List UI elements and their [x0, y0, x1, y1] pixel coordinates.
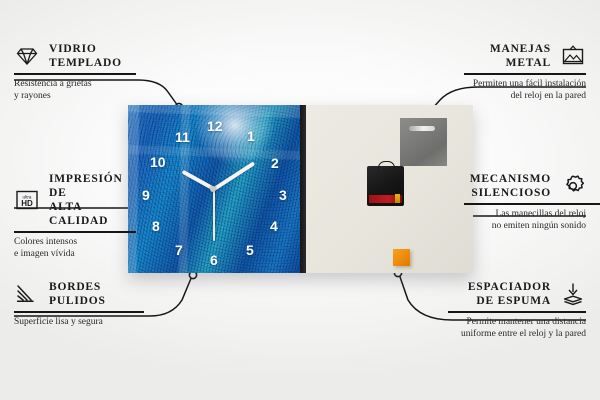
- feature-title: MANEJAS METAL: [490, 42, 551, 70]
- feature-espaciador-espuma: ESPACIADOR DE ESPUMA Permite mantener un…: [448, 280, 586, 341]
- feature-vidrio-templado: VIDRIO TEMPLADO Resistencia a grietas y …: [14, 42, 136, 103]
- foam-spacer-piece: [393, 249, 410, 266]
- feature-rule: [464, 73, 586, 75]
- feature-header: MECANISMO SILENCIOSO: [464, 172, 586, 200]
- mechanism-hanging-loop: [378, 161, 395, 170]
- feature-rule: [14, 311, 144, 313]
- infographic-canvas: 12 1 2 3 4 5 6 7 8 9 10 11: [0, 0, 600, 400]
- feature-rule: [464, 203, 600, 205]
- feature-title: IMPRESIÓN DE ALTA CALIDAD: [49, 172, 136, 228]
- hanger-keyhole-slot: [409, 126, 435, 131]
- clock-numeral-6: 6: [210, 253, 218, 267]
- clock-numeral-5: 5: [246, 243, 254, 257]
- ultra-hd-icon: ultra HD: [14, 187, 40, 213]
- feature-title: VIDRIO TEMPLADO: [49, 42, 122, 70]
- diamond-icon: [14, 43, 40, 69]
- feature-description: Resistencia a grietas y rayones: [14, 78, 136, 103]
- clock-panel-edge: [300, 105, 306, 273]
- feature-rule: [14, 73, 136, 75]
- feature-header: BORDES PULIDOS: [14, 280, 136, 308]
- feature-rule: [448, 311, 586, 313]
- foam-spacer-icon: [560, 281, 586, 307]
- feature-title: BORDES PULIDOS: [49, 280, 106, 308]
- feature-header: VIDRIO TEMPLADO: [14, 42, 136, 70]
- svg-text:HD: HD: [21, 199, 33, 208]
- feature-title: MECANISMO SILENCIOSO: [470, 172, 551, 200]
- clock-numeral-9: 9: [142, 188, 150, 202]
- clock-second-hand: [213, 189, 214, 241]
- wall-hanger-icon: [560, 43, 586, 69]
- clock-center-pivot: [210, 186, 216, 192]
- gear-icon: [560, 173, 586, 199]
- feature-bordes-pulidos: BORDES PULIDOS Superficie lisa y segura: [14, 280, 136, 328]
- clock-numeral-11: 11: [175, 130, 190, 144]
- feature-manejas-metal: MANEJAS METAL Permiten una fácil instala…: [464, 42, 586, 103]
- feature-rule: [14, 231, 136, 233]
- clock-minute-hand: [213, 161, 255, 190]
- clock-face: 12 1 2 3 4 5 6 7 8 9 10 11: [128, 105, 300, 273]
- clock-numeral-2: 2: [271, 156, 279, 170]
- feature-description: Colores intensos e imagen vívida: [14, 236, 136, 261]
- mechanism-yellow-tab: [395, 194, 400, 203]
- clock-numeral-1: 1: [247, 129, 255, 143]
- clock-numeral-7: 7: [175, 243, 183, 257]
- feature-description: Superficie lisa y segura: [14, 316, 136, 329]
- clock-numeral-8: 8: [152, 219, 160, 233]
- clock-numeral-12: 12: [207, 119, 223, 133]
- feature-impresion-alta-calidad: ultra HD IMPRESIÓN DE ALTA CALIDAD Color…: [14, 172, 136, 261]
- metal-hanger-plate: [400, 118, 447, 166]
- clock-numeral-3: 3: [279, 188, 287, 202]
- feature-title: ESPACIADOR DE ESPUMA: [468, 280, 551, 308]
- feature-header: ESPACIADOR DE ESPUMA: [448, 280, 586, 308]
- clock-numeral-4: 4: [270, 219, 278, 233]
- feature-header: ultra HD IMPRESIÓN DE ALTA CALIDAD: [14, 172, 136, 228]
- feature-description: Permite mantener una distancia uniforme …: [448, 316, 586, 341]
- feature-header: MANEJAS METAL: [464, 42, 586, 70]
- feature-description: Las manecillas del reloj no emiten ningú…: [464, 208, 586, 233]
- clock-mechanism: [367, 166, 404, 206]
- feature-description: Permiten una fácil instalación del reloj…: [464, 78, 586, 103]
- polished-edges-icon: [14, 281, 40, 307]
- feature-mecanismo-silencioso: MECANISMO SILENCIOSO Las manecillas del …: [464, 172, 586, 233]
- clock-numeral-10: 10: [150, 155, 166, 169]
